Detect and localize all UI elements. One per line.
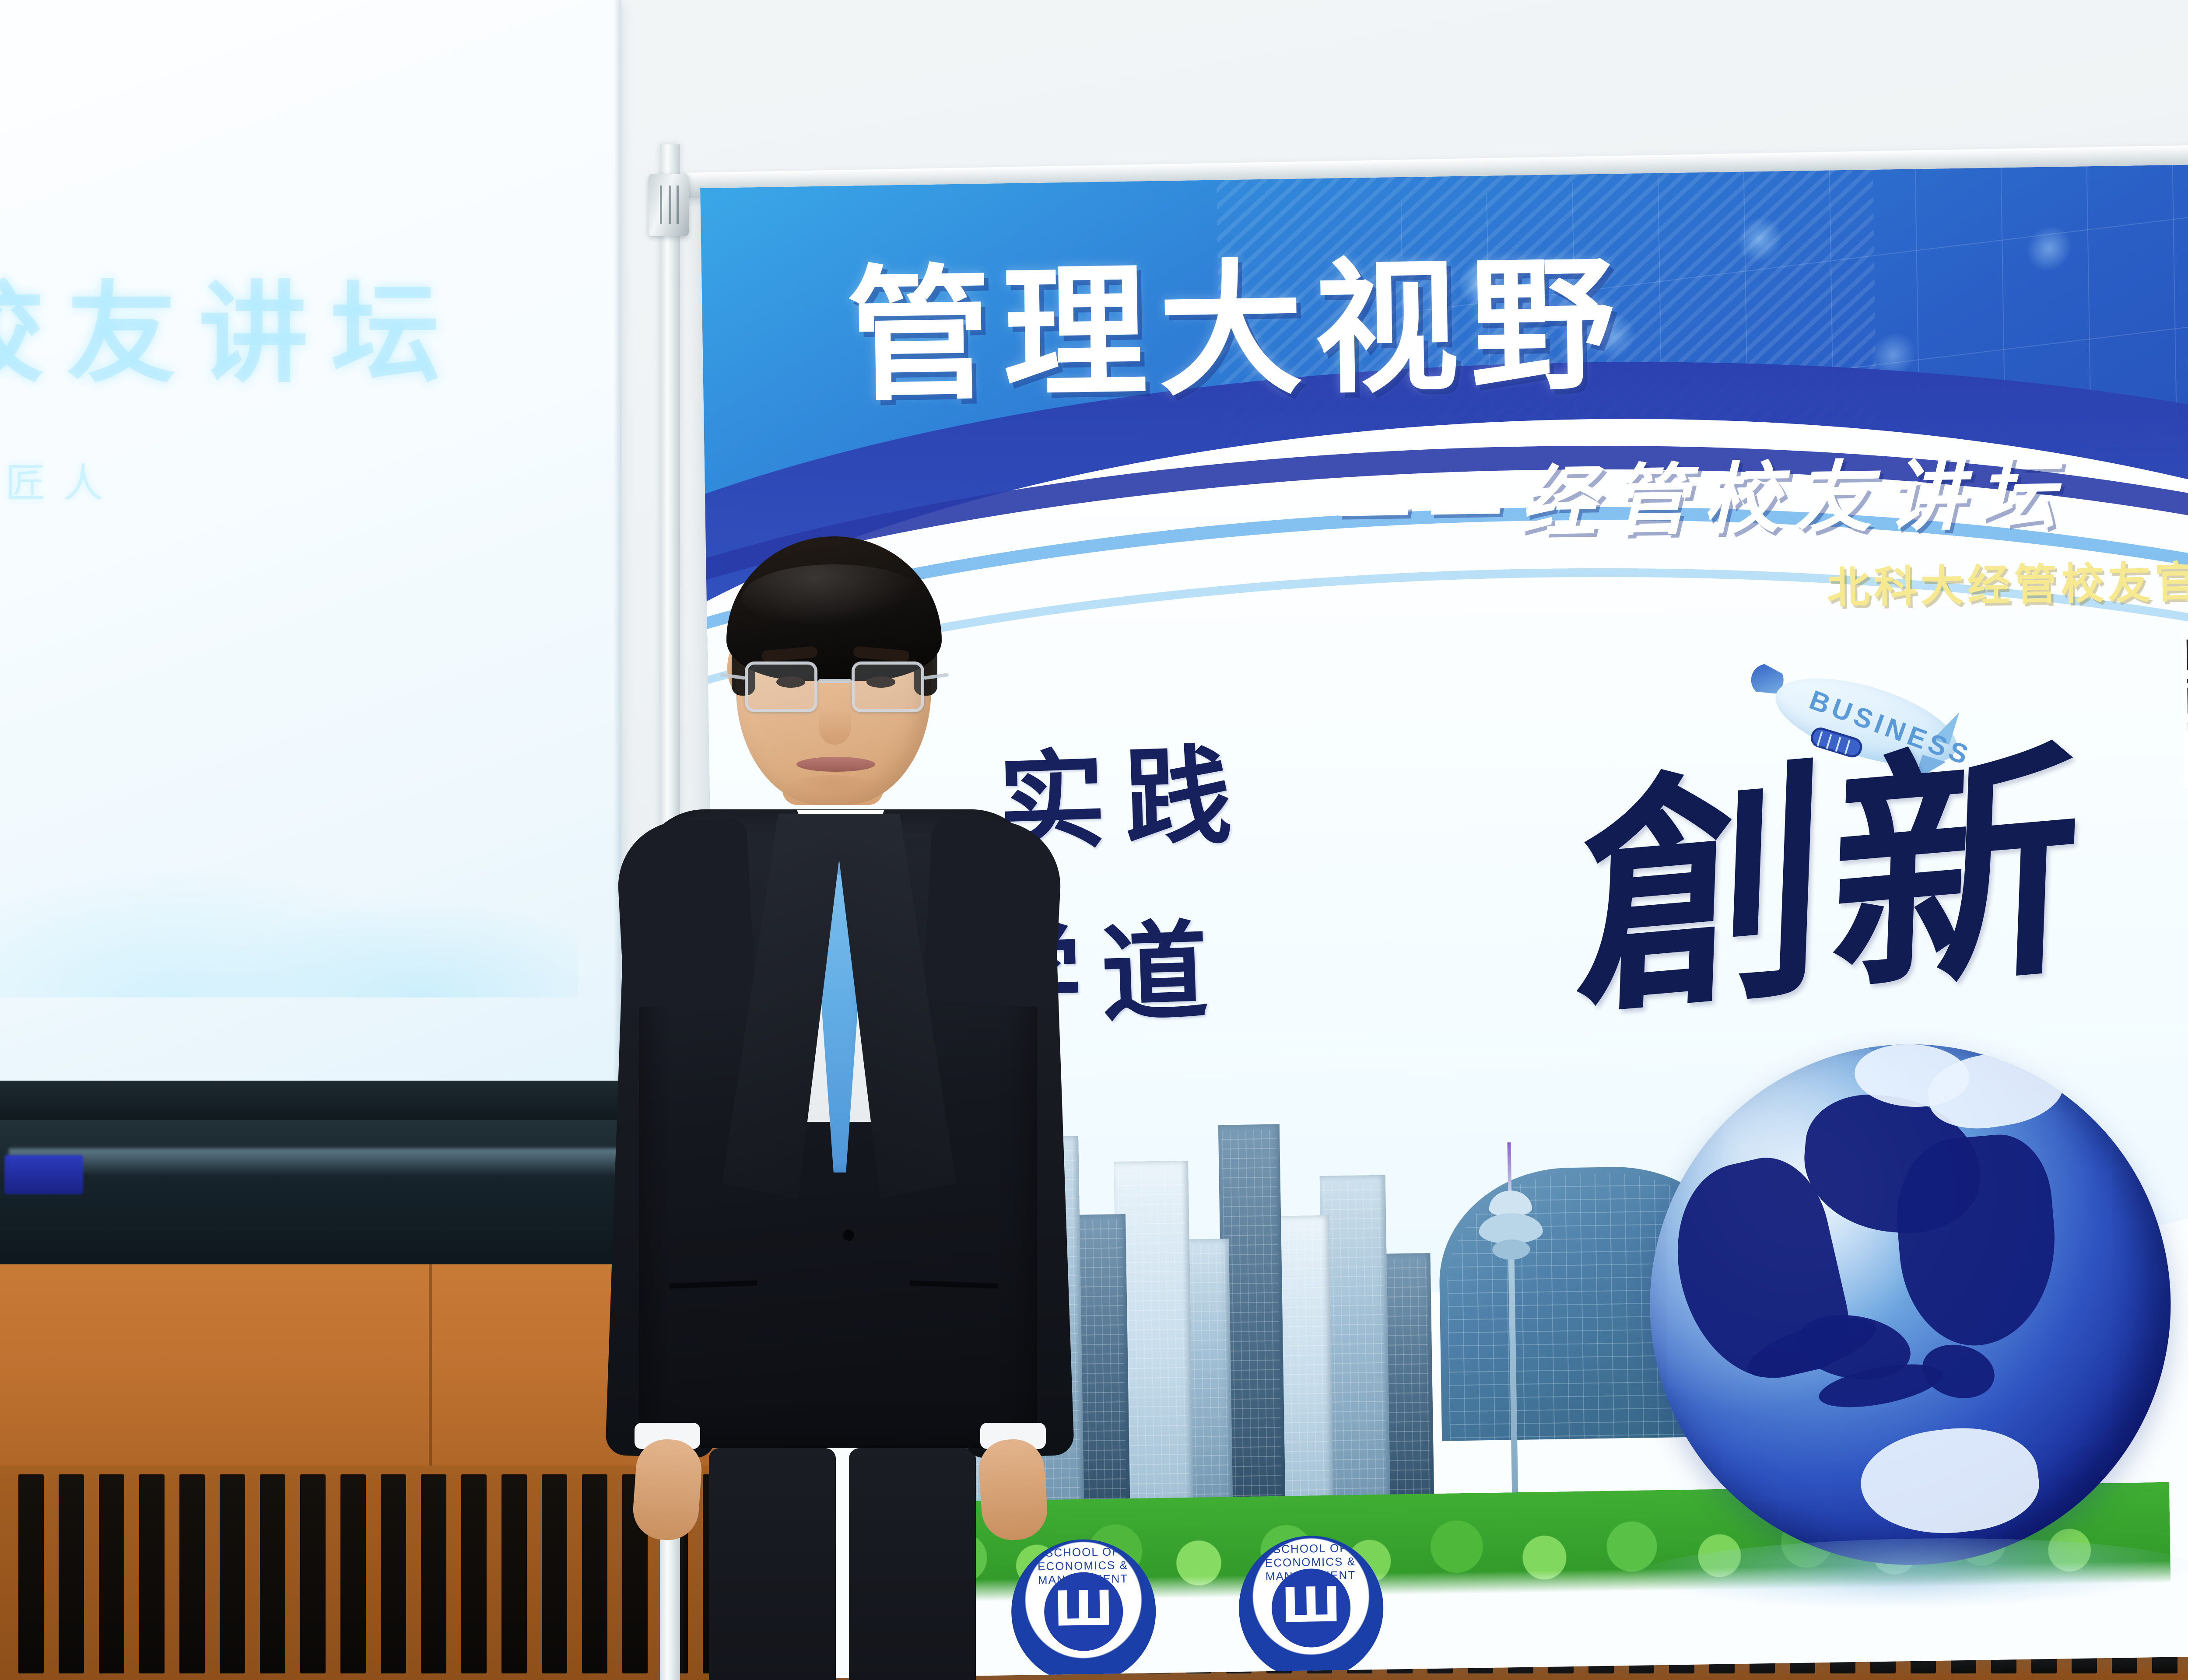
speaker-suit-button [843, 1229, 854, 1241]
speaker-hand-right [977, 1437, 1049, 1542]
speaker-leg-right [849, 1448, 976, 1680]
crest-inner-mark [1271, 1568, 1351, 1648]
speaker-shoulder-left [615, 817, 756, 1008]
grille-slat [340, 1474, 366, 1673]
banner-subtitle: ——经管校友讲坛 [1335, 455, 2071, 544]
wechat-label: 北科大经管校友官方微信 [1826, 545, 2188, 615]
qr-handle-text: jgxy-ustb [2167, 795, 2188, 838]
speaker-leg-left [709, 1448, 836, 1680]
eyeglass-lens-right [852, 661, 924, 712]
eyeglass-lens-left [745, 661, 817, 712]
grille-slat [260, 1474, 285, 1673]
school-crest-right: SCHOOL OF ECONOMICS & MANAGEMENT [1238, 1535, 1385, 1680]
speaker-figure [578, 521, 1103, 1680]
grille-slat [381, 1474, 406, 1673]
speaker-hair [726, 536, 942, 681]
projection-headline-text: 校友讲坛 [0, 245, 512, 403]
banner-title: 管理大视野 [846, 252, 1627, 409]
banner-clamp-left [649, 174, 689, 236]
counter-blue-object [4, 1155, 83, 1194]
eyeglass-bridge [818, 679, 852, 683]
grille-slat [542, 1474, 567, 1673]
grille-slat [18, 1474, 44, 1673]
tv-tower-spike [1507, 1142, 1511, 1195]
photo-scene: 校友讲坛 师匠人 管理大视野 ——经管校友讲坛 北科大经管校友官方微信 [0, 0, 2188, 1680]
grille-slat [300, 1474, 326, 1673]
skyline-building [1276, 1215, 1334, 1518]
speaker-nose [819, 692, 851, 745]
grille-slat [421, 1474, 446, 1673]
tv-tower-domes [1469, 1190, 1553, 1301]
speaker-chin [783, 775, 884, 805]
grille-slat [139, 1474, 165, 1673]
projection-mountain-graphic [0, 604, 578, 997]
projection-screen: 校友讲坛 师匠人 [0, 0, 621, 1120]
grille-slat [461, 1474, 487, 1673]
grille-slat [220, 1474, 245, 1673]
speaker-hand-left [631, 1437, 704, 1542]
wechat-qr-block: jgxy-ustb [2164, 633, 2188, 838]
speaker-mouth [796, 757, 875, 772]
speaker-suit [578, 783, 1103, 1680]
calligraphy-feature: 創新 [1574, 734, 2089, 1029]
wood-seam [429, 1264, 432, 1466]
qr-code-icon [2182, 633, 2188, 788]
grille-slat [99, 1474, 124, 1673]
globe-landmass [1917, 1338, 1999, 1405]
speaker-shoulder-right [923, 817, 1064, 1008]
grille-slat [59, 1474, 84, 1673]
grille-slat [179, 1474, 205, 1673]
globe-landmass-light [1855, 1419, 2044, 1543]
projection-subline-text: 师匠人 [0, 451, 516, 509]
grille-slat [501, 1474, 527, 1673]
